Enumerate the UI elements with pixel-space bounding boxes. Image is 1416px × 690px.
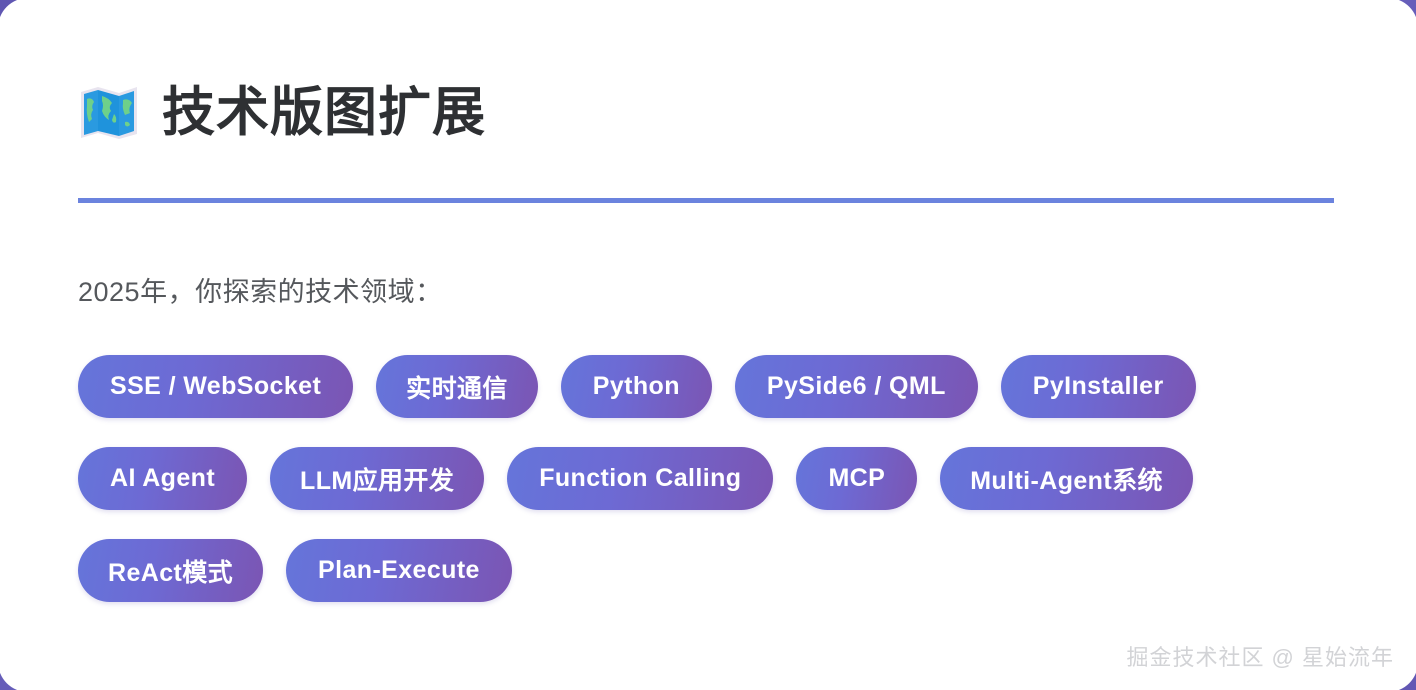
tech-tag[interactable]: AI Agent [78, 447, 247, 510]
tech-tag[interactable]: LLM应用开发 [270, 447, 484, 510]
slide-content: 技术版图扩展 2025年，你探索的技术领域： SSE / WebSocket实时… [0, 0, 1416, 690]
tech-tag[interactable]: SSE / WebSocket [78, 355, 353, 418]
tag-row: AI AgentLLM应用开发Function CallingMCPMulti-… [78, 447, 1318, 510]
slide-card: 技术版图扩展 2025年，你探索的技术领域： SSE / WebSocket实时… [0, 0, 1416, 690]
tech-tag[interactable]: MCP [796, 447, 917, 510]
tag-row: SSE / WebSocket实时通信PythonPySide6 / QMLPy… [78, 355, 1318, 418]
tag-cloud: SSE / WebSocket实时通信PythonPySide6 / QMLPy… [78, 355, 1318, 631]
header-divider [78, 198, 1334, 203]
tech-tag[interactable]: 实时通信 [376, 355, 538, 418]
watermark: 掘金技术社区 @ 星始流年 [1126, 640, 1394, 672]
tech-tag[interactable]: ReAct模式 [78, 539, 263, 602]
tech-tag[interactable]: PySide6 / QML [735, 355, 978, 418]
section-subtitle: 2025年，你探索的技术领域： [78, 270, 443, 309]
tech-tag[interactable]: Function Calling [507, 447, 773, 510]
page-title: 技术版图扩展 [162, 85, 486, 141]
tech-tag[interactable]: Plan-Execute [286, 539, 512, 602]
world-map-icon [78, 84, 140, 142]
tag-row: ReAct模式Plan-Execute [78, 539, 1318, 602]
tech-tag[interactable]: Python [561, 355, 712, 418]
tech-tag[interactable]: Multi-Agent系统 [940, 447, 1193, 510]
slide-header: 技术版图扩展 [78, 84, 486, 142]
tech-tag[interactable]: PyInstaller [1001, 355, 1196, 418]
